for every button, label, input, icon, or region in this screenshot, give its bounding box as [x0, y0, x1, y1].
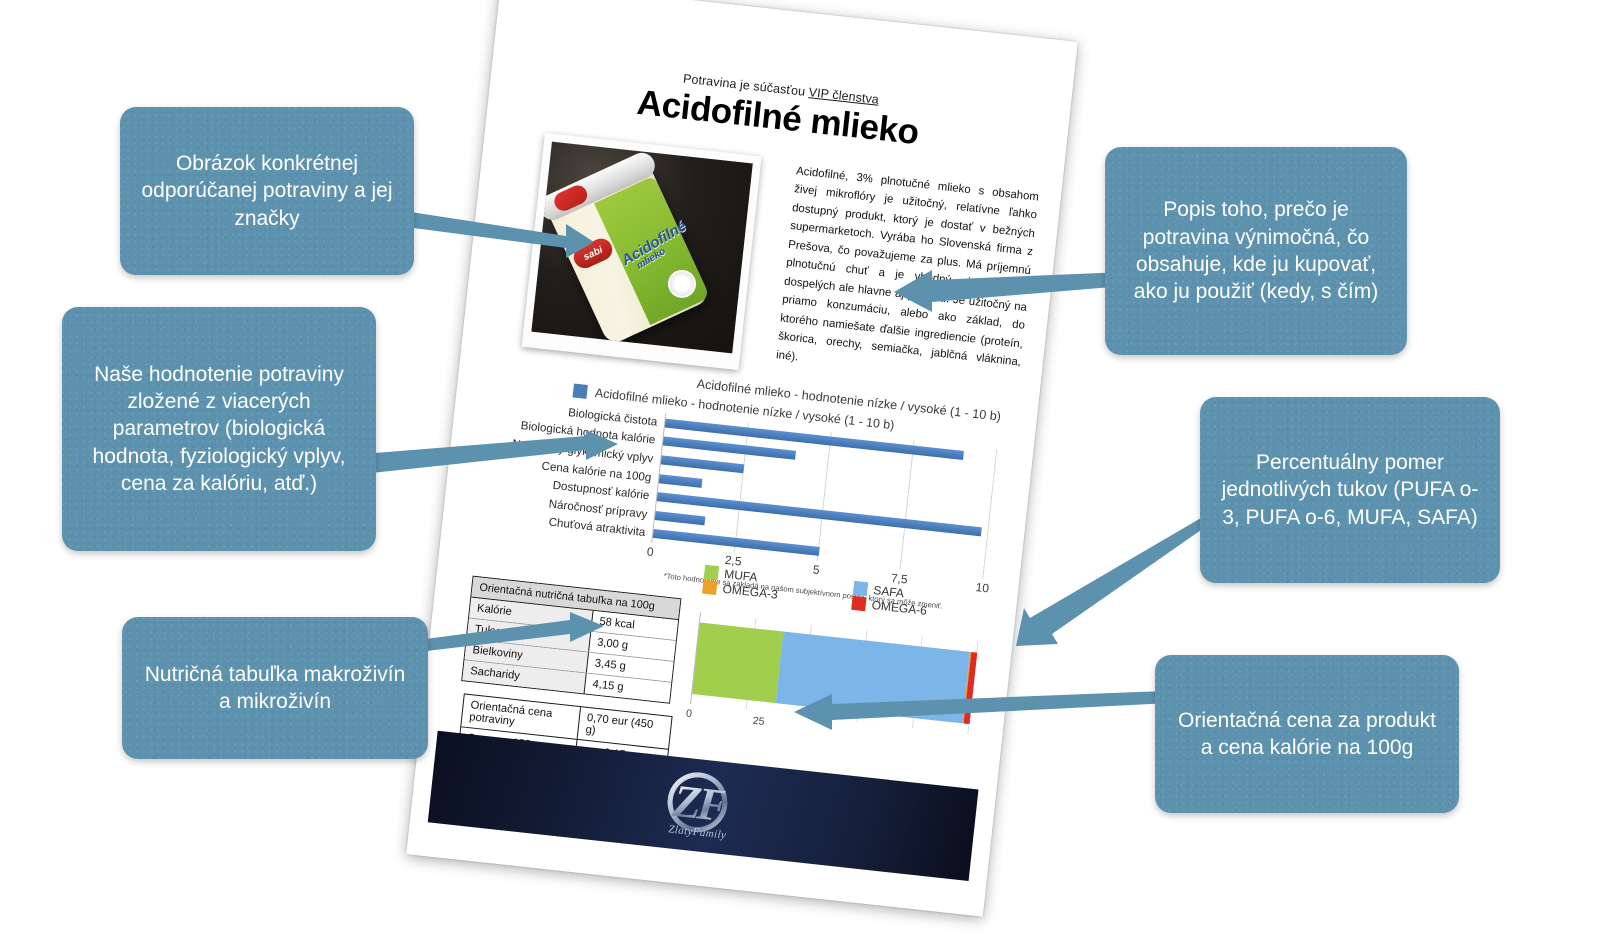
callout-rating-text: Naše hodnotenie potraviny zložené z viac…: [80, 361, 358, 497]
callout-description[interactable]: Popis toho, prečo je potravina výnimočná…: [1105, 147, 1407, 355]
callout-nutrition[interactable]: Nutričná tabuľka makroživín a mikroživín: [122, 617, 428, 759]
fat-x-tick: 0: [685, 708, 692, 721]
callout-description-text: Popis toho, prečo je potravina výnimočná…: [1123, 196, 1389, 305]
rating-x-tick: 5: [812, 562, 820, 577]
connector-rating: [362, 430, 622, 494]
callout-rating[interactable]: Naše hodnotenie potraviny zložené z viac…: [62, 307, 376, 551]
callout-fats[interactable]: Percentuálny pomer jednotlivých tukov (P…: [1200, 397, 1500, 583]
callout-fats-text: Percentuálny pomer jednotlivých tukov (P…: [1218, 449, 1482, 531]
connector-fats: [1014, 508, 1224, 656]
callout-photo[interactable]: Obrázok konkrétnej odporúčanej potraviny…: [120, 107, 414, 275]
fat-legend-swatch-icon: [851, 596, 866, 611]
connector-photo: [398, 196, 598, 258]
fat-ratio-chart: MUFASAFAOMEGA-3OMEGA-6 025: [677, 564, 988, 784]
legend-swatch-rating-icon: [572, 383, 587, 398]
rating-bar: [659, 474, 703, 488]
rating-x-tick: 10: [975, 580, 990, 595]
connector-nutrition: [418, 600, 608, 656]
callout-price[interactable]: Orientačná cena za produkt a cena kalóri…: [1155, 655, 1459, 813]
callout-photo-text: Obrázok konkrétnej odporúčanej potraviny…: [138, 150, 396, 232]
fat-legend-swatch-icon: [702, 580, 717, 595]
fat-segment-mufa: [692, 622, 783, 703]
connector-price: [790, 676, 1190, 732]
callout-nutrition-text: Nutričná tabuľka makroživín a mikroživín: [140, 661, 410, 716]
rating-bar: [655, 511, 706, 525]
slide-canvas: Potravina je súčasťou VIP členstva Acido…: [0, 0, 1619, 942]
zf-logo: ZF ZlatyFamily: [656, 766, 751, 845]
logo-monogram: ZF: [671, 774, 727, 832]
fat-legend-swatch-icon: [704, 565, 719, 580]
fat-x-tick: 25: [752, 715, 765, 728]
callout-price-text: Orientačná cena za produkt a cena kalóri…: [1173, 707, 1441, 762]
connector-description: [888, 240, 1124, 312]
fat-legend-swatch-icon: [853, 581, 868, 596]
rating-x-tick: 0: [646, 544, 654, 559]
